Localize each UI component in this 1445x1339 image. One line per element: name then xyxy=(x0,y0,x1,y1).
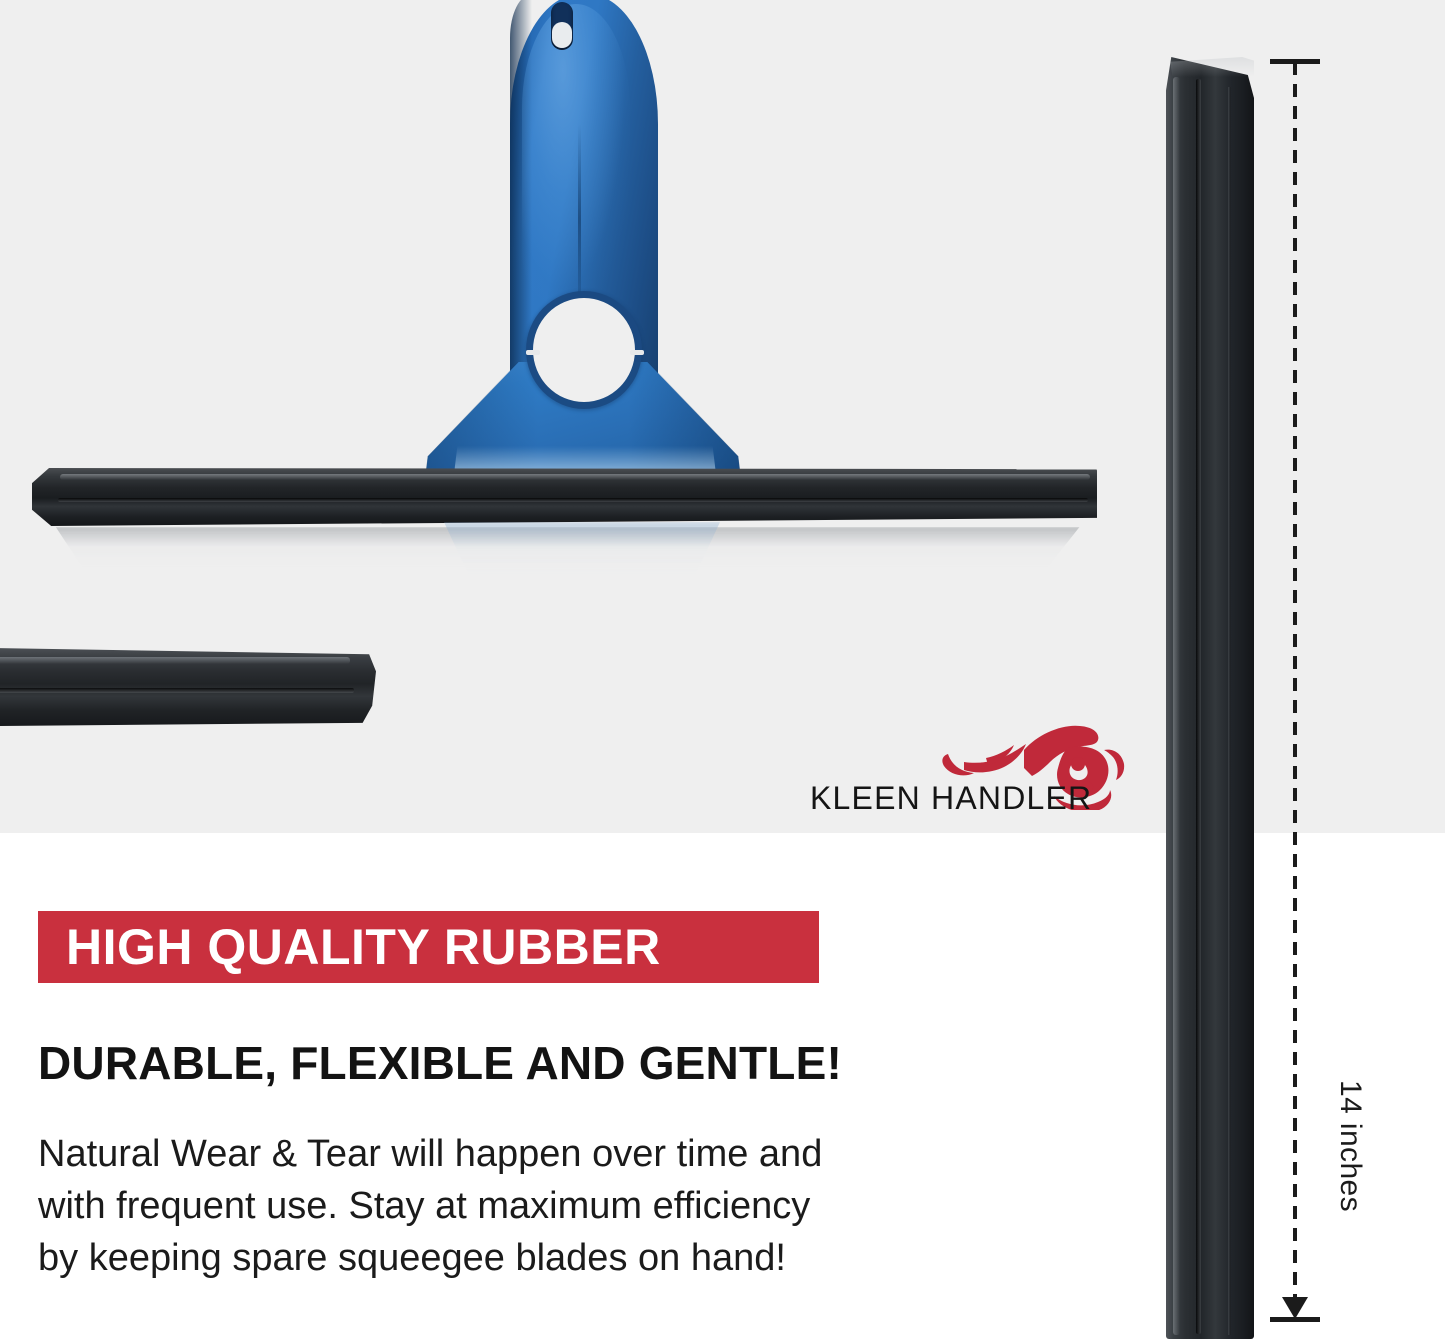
blade-groove xyxy=(58,498,1088,502)
headline-text: HIGH QUALITY RUBBER xyxy=(66,918,661,976)
body-copy: Natural Wear & Tear will happen over tim… xyxy=(38,1128,1028,1284)
neck-notch-left xyxy=(526,350,540,355)
dimension-arrow-icon xyxy=(1282,1297,1308,1319)
spare-blade-highlight xyxy=(0,657,350,664)
spare-blade-groove xyxy=(0,688,354,693)
hang-hole-opening xyxy=(552,22,572,48)
body-line-3: by keeping spare squeegee blades on hand… xyxy=(38,1232,1028,1284)
blade-highlight xyxy=(60,474,1090,480)
squeegee-rubber-blade xyxy=(32,468,1097,526)
vertical-blade-step xyxy=(1228,87,1231,1335)
dimension-tick-bottom xyxy=(1270,1317,1320,1322)
vertical-blade-highlight xyxy=(1173,77,1180,1335)
dimension-label-area: 14 inches xyxy=(1278,600,1318,790)
squeegee-handle xyxy=(418,0,748,534)
brand-logo: KLEEN HANDLER xyxy=(808,722,1138,822)
vertical-blade-groove xyxy=(1196,79,1201,1334)
handle-highlight xyxy=(522,4,630,304)
dimension-label: 14 inches xyxy=(1333,1080,1367,1280)
body-line-2: with frequent use. Stay at maximum effic… xyxy=(38,1180,1028,1232)
product-infographic: 14 inches xyxy=(0,0,1445,1339)
headline-banner: HIGH QUALITY RUBBER xyxy=(38,911,819,983)
neck-notch-right xyxy=(630,350,644,355)
subheading-text: DURABLE, FLEXIBLE AND GENTLE! xyxy=(38,1036,842,1090)
body-line-1: Natural Wear & Tear will happen over tim… xyxy=(38,1128,1028,1180)
brand-name: KLEEN HANDLER xyxy=(810,780,1092,817)
spare-rubber-blade xyxy=(0,648,376,726)
neck-opening xyxy=(533,298,635,402)
head-reflection xyxy=(432,522,732,574)
handle-seam-line xyxy=(578,124,581,314)
vertical-rubber-blade xyxy=(1166,57,1254,1339)
